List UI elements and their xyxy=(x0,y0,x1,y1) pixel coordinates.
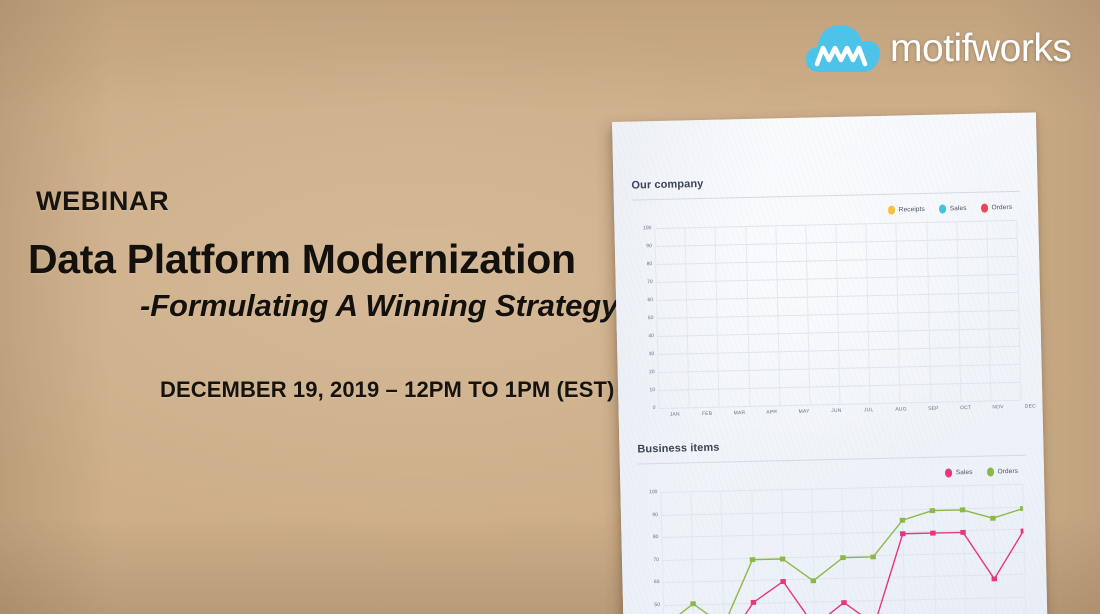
page-subtitle: -Formulating A Winning Strategy xyxy=(140,288,618,324)
brand-logo: motifworks xyxy=(806,22,1071,74)
page-title: Data Platform Modernization xyxy=(28,236,576,283)
bar-group-apr xyxy=(745,225,779,406)
webinar-eyebrow-label: WEBINAR xyxy=(36,186,169,217)
y-tick-label: 50 xyxy=(648,315,654,321)
y-tick-label: 60 xyxy=(647,297,653,303)
data-point-orders xyxy=(690,601,696,606)
chart1-plot-area: 0102030405060708090100 xyxy=(632,220,1024,409)
x-tick-label: JUN xyxy=(820,408,852,415)
chart2-title: Business items xyxy=(637,435,1025,456)
bar-group-mar xyxy=(715,226,749,407)
data-point-sales xyxy=(751,600,757,605)
x-tick-label: SEP xyxy=(917,405,949,412)
webinar-promo-banner: motifworks WEBINAR Data Platform Moderni… xyxy=(0,0,1100,614)
data-point-orders xyxy=(930,508,936,513)
line-orders xyxy=(661,509,1025,614)
chart-business-items: Business items SalesOrders 4050607080901… xyxy=(619,434,1047,614)
chart2-legend: SalesOrders xyxy=(638,467,1026,485)
data-point-sales xyxy=(841,600,847,605)
x-tick-label: MAR xyxy=(723,410,755,417)
chart1-legend: ReceiptsSalesOrders xyxy=(632,203,1020,221)
data-point-orders xyxy=(960,507,966,512)
bar-group-oct xyxy=(926,221,960,402)
x-tick-label: DEC xyxy=(1014,403,1046,410)
legend-item-sales: Sales xyxy=(945,468,973,478)
y-tick-label: 70 xyxy=(653,557,659,563)
data-point-orders xyxy=(870,554,876,559)
y-tick-label: 60 xyxy=(654,579,660,585)
data-point-orders xyxy=(780,557,786,562)
y-tick-label: 10 xyxy=(649,387,655,393)
chart-our-company: Our company ReceiptsSalesOrders 01020304… xyxy=(613,170,1042,419)
data-point-sales xyxy=(1021,529,1026,534)
bar-group-sep xyxy=(896,222,930,403)
x-tick-label: JAN xyxy=(659,411,691,418)
chart2-line-series xyxy=(660,484,1025,614)
x-tick-label: FEB xyxy=(691,411,723,418)
y-tick-label: 20 xyxy=(649,369,655,375)
x-tick-label: NOV xyxy=(982,404,1014,411)
x-tick-label: OCT xyxy=(949,405,981,412)
data-point-sales xyxy=(992,576,998,581)
legend-swatch-orders xyxy=(980,204,987,213)
data-point-orders xyxy=(900,518,906,523)
legend-label-sales: Sales xyxy=(956,469,973,476)
brand-name: motifworks xyxy=(890,29,1071,68)
y-tick-label: 30 xyxy=(649,351,655,357)
data-point-orders xyxy=(990,516,996,521)
data-point-orders xyxy=(840,555,846,560)
legend-item-orders: Orders xyxy=(986,467,1018,477)
chart1-title-rule xyxy=(632,191,1020,201)
chart1-bars xyxy=(654,220,1020,408)
legend-label-receipts: Receipts xyxy=(899,206,925,214)
y-tick-label: 100 xyxy=(643,225,651,231)
bar-group-may xyxy=(775,225,809,406)
x-tick-label: JUL xyxy=(853,407,885,414)
legend-swatch-orders xyxy=(986,467,993,476)
data-point-orders xyxy=(750,557,756,562)
bar-group-jul xyxy=(835,223,869,404)
data-point-sales xyxy=(960,530,966,535)
x-tick-label: APR xyxy=(756,409,788,416)
event-date-time: DECEMBER 19, 2019 – 12PM TO 1PM (EST) xyxy=(160,377,614,403)
x-tick-label: MAY xyxy=(788,408,820,415)
y-tick-label: 90 xyxy=(646,243,652,249)
chart1-title: Our company xyxy=(631,171,1019,192)
bar-group-aug xyxy=(866,223,900,404)
data-point-sales xyxy=(900,531,906,536)
data-point-orders xyxy=(811,578,817,583)
y-tick-label: 70 xyxy=(647,279,653,285)
y-tick-label: 0 xyxy=(653,405,656,411)
chart2-title-rule xyxy=(638,455,1026,465)
y-tick-label: 40 xyxy=(648,333,654,339)
legend-swatch-sales xyxy=(945,468,952,477)
legend-label-sales: Sales xyxy=(950,205,967,212)
bar-group-feb xyxy=(685,227,719,408)
x-tick-label: AUG xyxy=(885,406,917,413)
legend-item-orders: Orders xyxy=(980,203,1012,213)
data-point-sales xyxy=(780,579,786,584)
legend-item-receipts: Receipts xyxy=(888,205,925,215)
bar-group-nov xyxy=(956,221,990,402)
y-tick-label: 50 xyxy=(654,602,660,608)
chart2-plot-area: 405060708090100 xyxy=(638,484,1029,614)
legend-label-orders: Orders xyxy=(997,468,1018,475)
bar-group-jan xyxy=(654,227,688,408)
line-sales xyxy=(722,531,1026,614)
y-tick-label: 80 xyxy=(647,261,653,267)
legend-swatch-receipts xyxy=(888,206,895,215)
y-tick-label: 90 xyxy=(652,512,658,518)
legend-item-sales: Sales xyxy=(939,204,967,214)
legend-swatch-sales xyxy=(939,204,946,213)
legend-label-orders: Orders xyxy=(991,204,1012,211)
y-tick-label: 100 xyxy=(649,489,657,495)
data-point-orders xyxy=(1020,506,1025,511)
chart2-y-axis: 405060708090100 xyxy=(638,492,663,614)
bar-group-jun xyxy=(805,224,839,405)
y-tick-label: 80 xyxy=(653,534,659,540)
printed-report-sheet: Our company ReceiptsSalesOrders 01020304… xyxy=(612,112,1048,614)
cloud-mw-icon xyxy=(806,22,880,74)
data-point-sales xyxy=(930,531,936,536)
bar-group-dec xyxy=(986,220,1020,401)
